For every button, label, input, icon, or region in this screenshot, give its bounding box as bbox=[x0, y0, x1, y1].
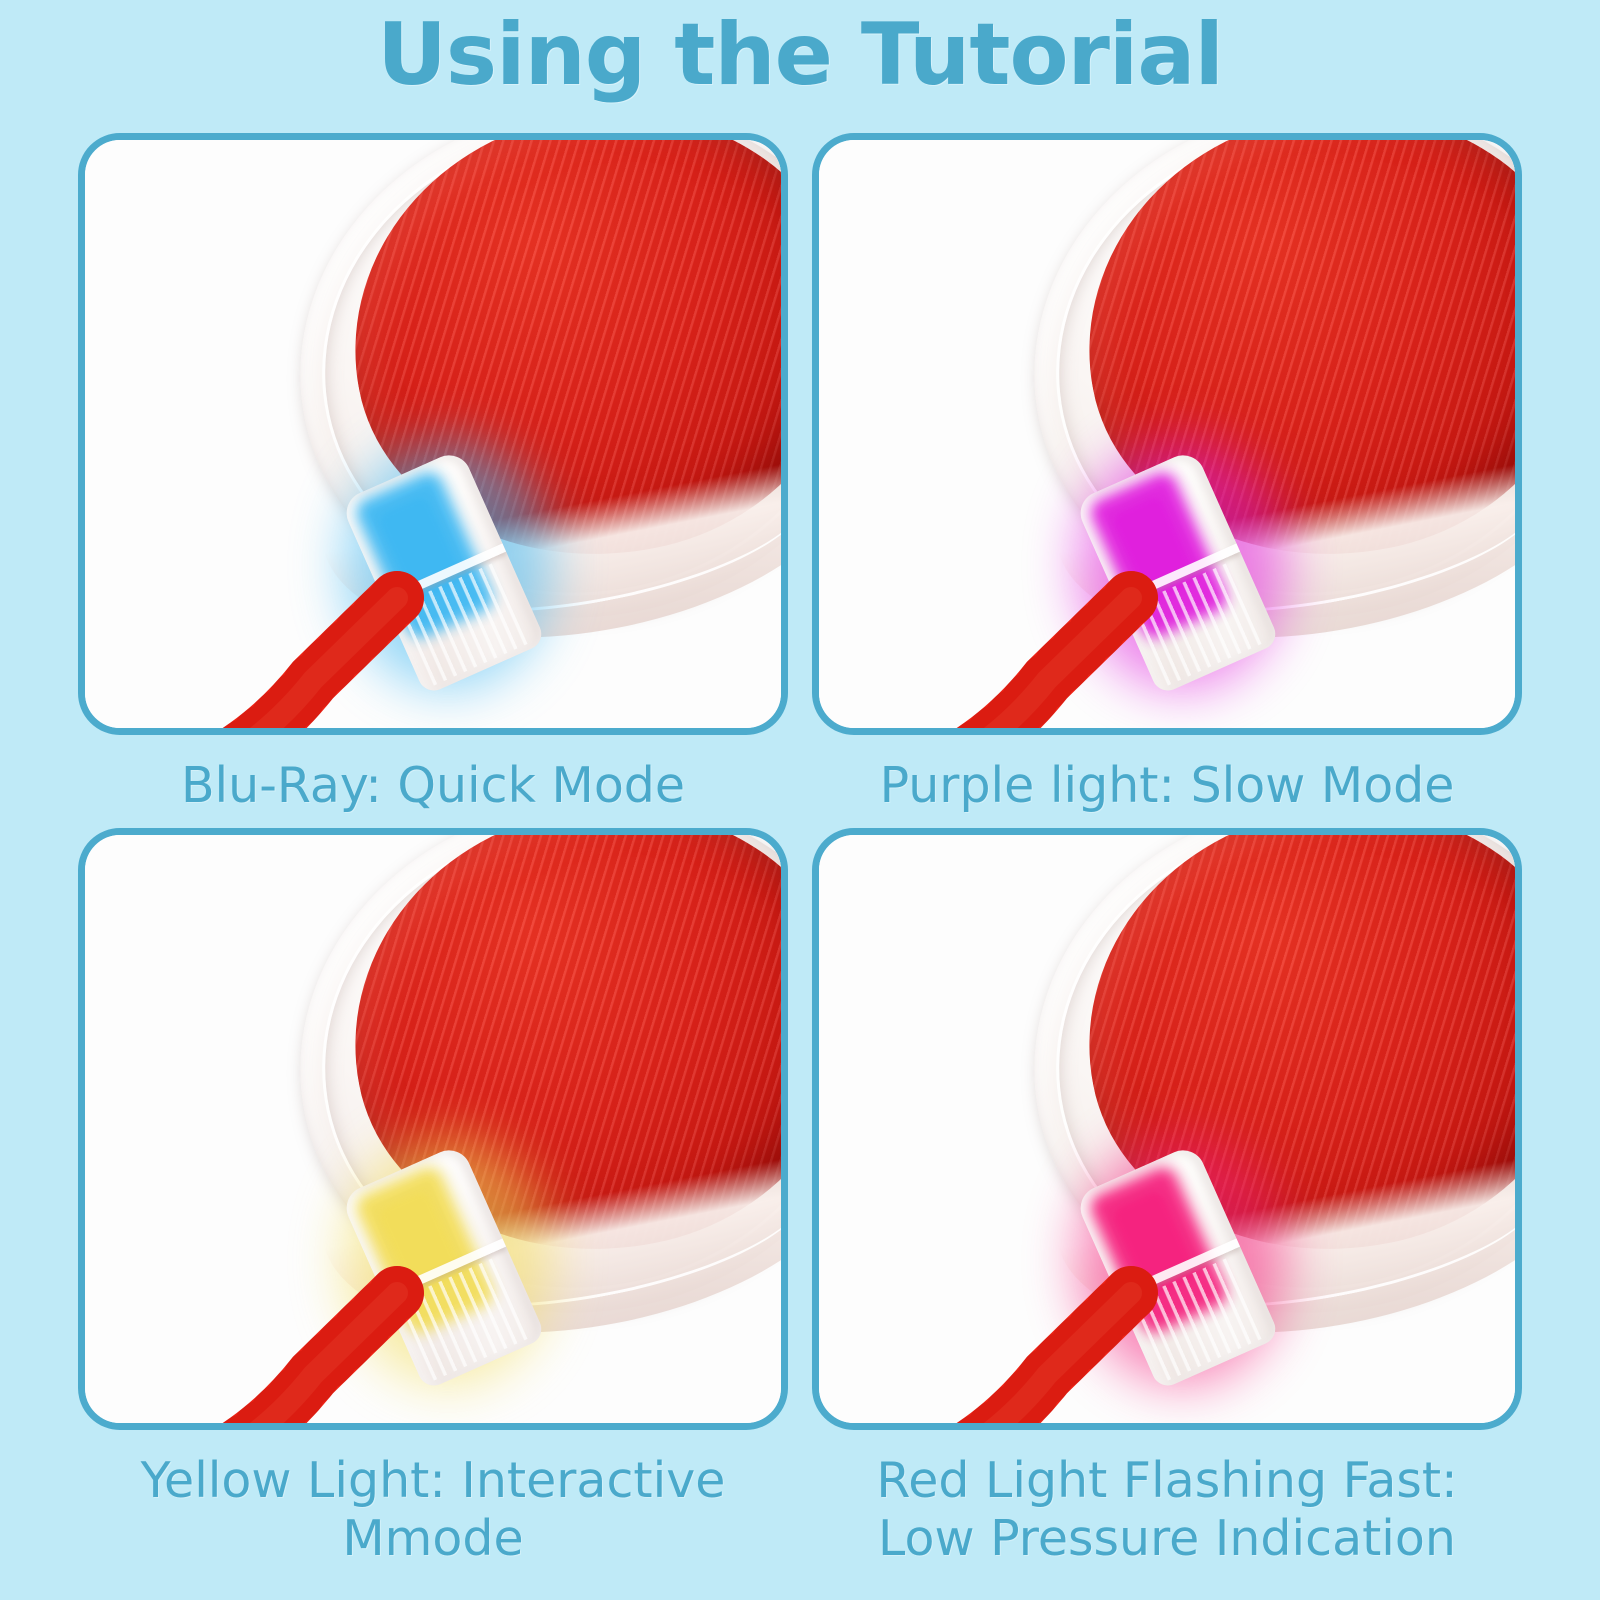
panel-caption-3: Red Light Flashing Fast: Low Pressure In… bbox=[812, 1452, 1522, 1568]
panel-caption-2: Yellow Light: Interactive Mmode bbox=[78, 1452, 788, 1568]
panel-caption-0: Blu-Ray: Quick Mode bbox=[78, 757, 788, 815]
panel-caption-1: Purple light: Slow Mode bbox=[812, 757, 1522, 815]
product-scene-2 bbox=[85, 835, 781, 1423]
tutorial-infographic: Using the Tutorial bbox=[0, 0, 1600, 1600]
product-photo-3 bbox=[812, 828, 1522, 1430]
tutorial-panel-3: Red Light Flashing Fast: Low Pressure In… bbox=[812, 828, 1522, 1568]
tutorial-panel-1: Purple light: Slow Mode bbox=[812, 133, 1522, 815]
panel-grid: Blu-Ray: Quick Mode bbox=[0, 0, 1600, 1600]
tutorial-panel-0: Blu-Ray: Quick Mode bbox=[78, 133, 788, 815]
tutorial-panel-2: Yellow Light: Interactive Mmode bbox=[78, 828, 788, 1568]
product-scene-1 bbox=[819, 140, 1515, 728]
product-scene-0 bbox=[85, 140, 781, 728]
product-photo-2 bbox=[78, 828, 788, 1430]
product-scene-3 bbox=[819, 835, 1515, 1423]
product-photo-1 bbox=[812, 133, 1522, 735]
product-photo-0 bbox=[78, 133, 788, 735]
